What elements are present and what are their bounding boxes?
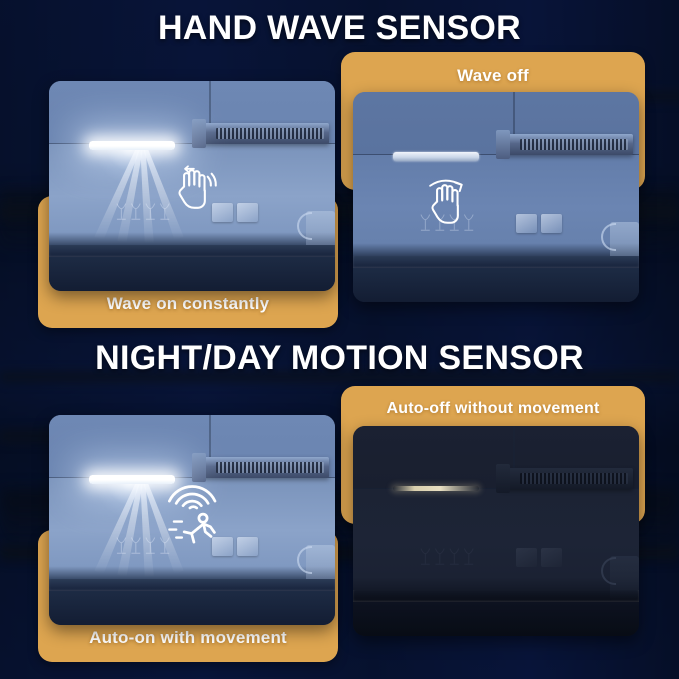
section-heading-hand-wave: HAND WAVE SENSOR [0,9,679,48]
led-bar-light [393,152,479,161]
wall-switches-decor [212,203,258,222]
led-bar-light [393,486,479,491]
panel-wave-on-photo [49,81,335,291]
infographic-canvas: HAND WAVE SENSOR Wave on constantly [0,0,679,679]
wine-glasses-decor [103,535,189,573]
panel-auto-on-label: Auto-on with movement [38,628,338,648]
wine-glasses-decor [407,546,493,584]
panel-auto-on-photo [49,415,335,625]
led-bar-light [89,141,175,150]
led-bar-light [89,475,175,484]
panel-auto-off-photo [353,426,639,636]
wall-switches-decor [516,548,562,567]
wall-switches-decor [212,537,258,556]
section-heading-motion-sensor: NIGHT/DAY MOTION SENSOR [0,339,679,378]
panel-auto-off-label: Auto-off without movement [341,400,645,418]
panel-wave-on-label: Wave on constantly [38,294,338,314]
panel-wave-off-photo [353,92,639,302]
panel-wave-off-label: Wave off [341,66,645,86]
wine-glasses-decor [103,201,189,239]
wine-glasses-decor [407,212,493,250]
wall-switches-decor [516,214,562,233]
